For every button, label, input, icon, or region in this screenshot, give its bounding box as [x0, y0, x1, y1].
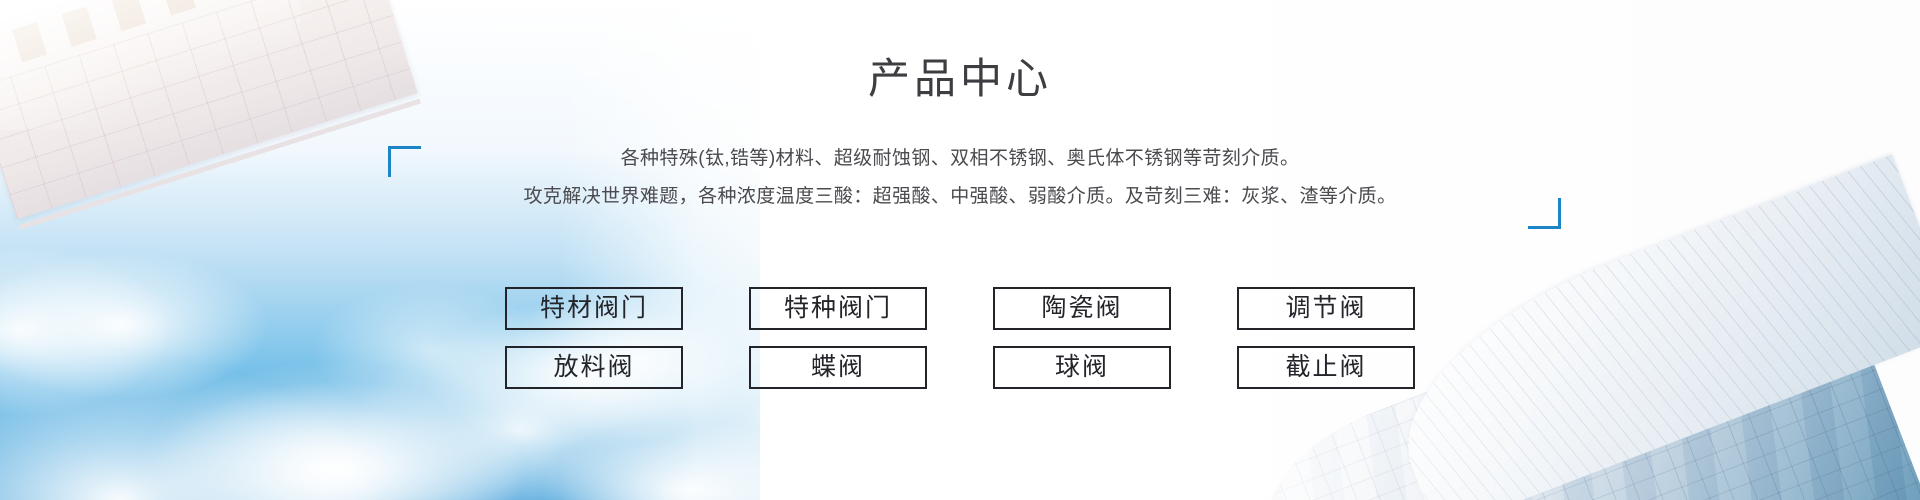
category-button-special-valve[interactable]: 特种阀门 [749, 287, 927, 330]
category-button-techai-valve[interactable]: 特材阀门 [505, 287, 683, 330]
page-title: 产品中心 [0, 50, 1920, 108]
category-button-grid: 特材阀门 特种阀门 陶瓷阀 调节阀 放料阀 蝶阀 球阀 截止阀 [0, 287, 1920, 405]
category-row-2: 放料阀 蝶阀 球阀 截止阀 [0, 346, 1920, 389]
category-button-control-valve[interactable]: 调节阀 [1237, 287, 1415, 330]
category-button-butterfly-valve[interactable]: 蝶阀 [749, 346, 927, 389]
description-line-1: 各种特殊(钛,锆等)材料、超级耐蚀钢、双相不锈钢、奥氏体不锈钢等苛刻介质。 [0, 140, 1920, 178]
product-center-banner: 产品中心 各种特殊(钛,锆等)材料、超级耐蚀钢、双相不锈钢、奥氏体不锈钢等苛刻介… [0, 0, 1920, 500]
category-row-1: 特材阀门 特种阀门 陶瓷阀 调节阀 [0, 287, 1920, 330]
banner-content: 产品中心 各种特殊(钛,锆等)材料、超级耐蚀钢、双相不锈钢、奥氏体不锈钢等苛刻介… [0, 0, 1920, 500]
category-button-ceramic-valve[interactable]: 陶瓷阀 [993, 287, 1171, 330]
category-button-discharge-valve[interactable]: 放料阀 [505, 346, 683, 389]
category-button-globe-valve[interactable]: 截止阀 [1237, 346, 1415, 389]
banner-description: 各种特殊(钛,锆等)材料、超级耐蚀钢、双相不锈钢、奥氏体不锈钢等苛刻介质。 攻克… [0, 140, 1920, 216]
description-line-2: 攻克解决世界难题，各种浓度温度三酸：超强酸、中强酸、弱酸介质。及苛刻三难：灰浆、… [0, 178, 1920, 216]
category-button-ball-valve[interactable]: 球阀 [993, 346, 1171, 389]
